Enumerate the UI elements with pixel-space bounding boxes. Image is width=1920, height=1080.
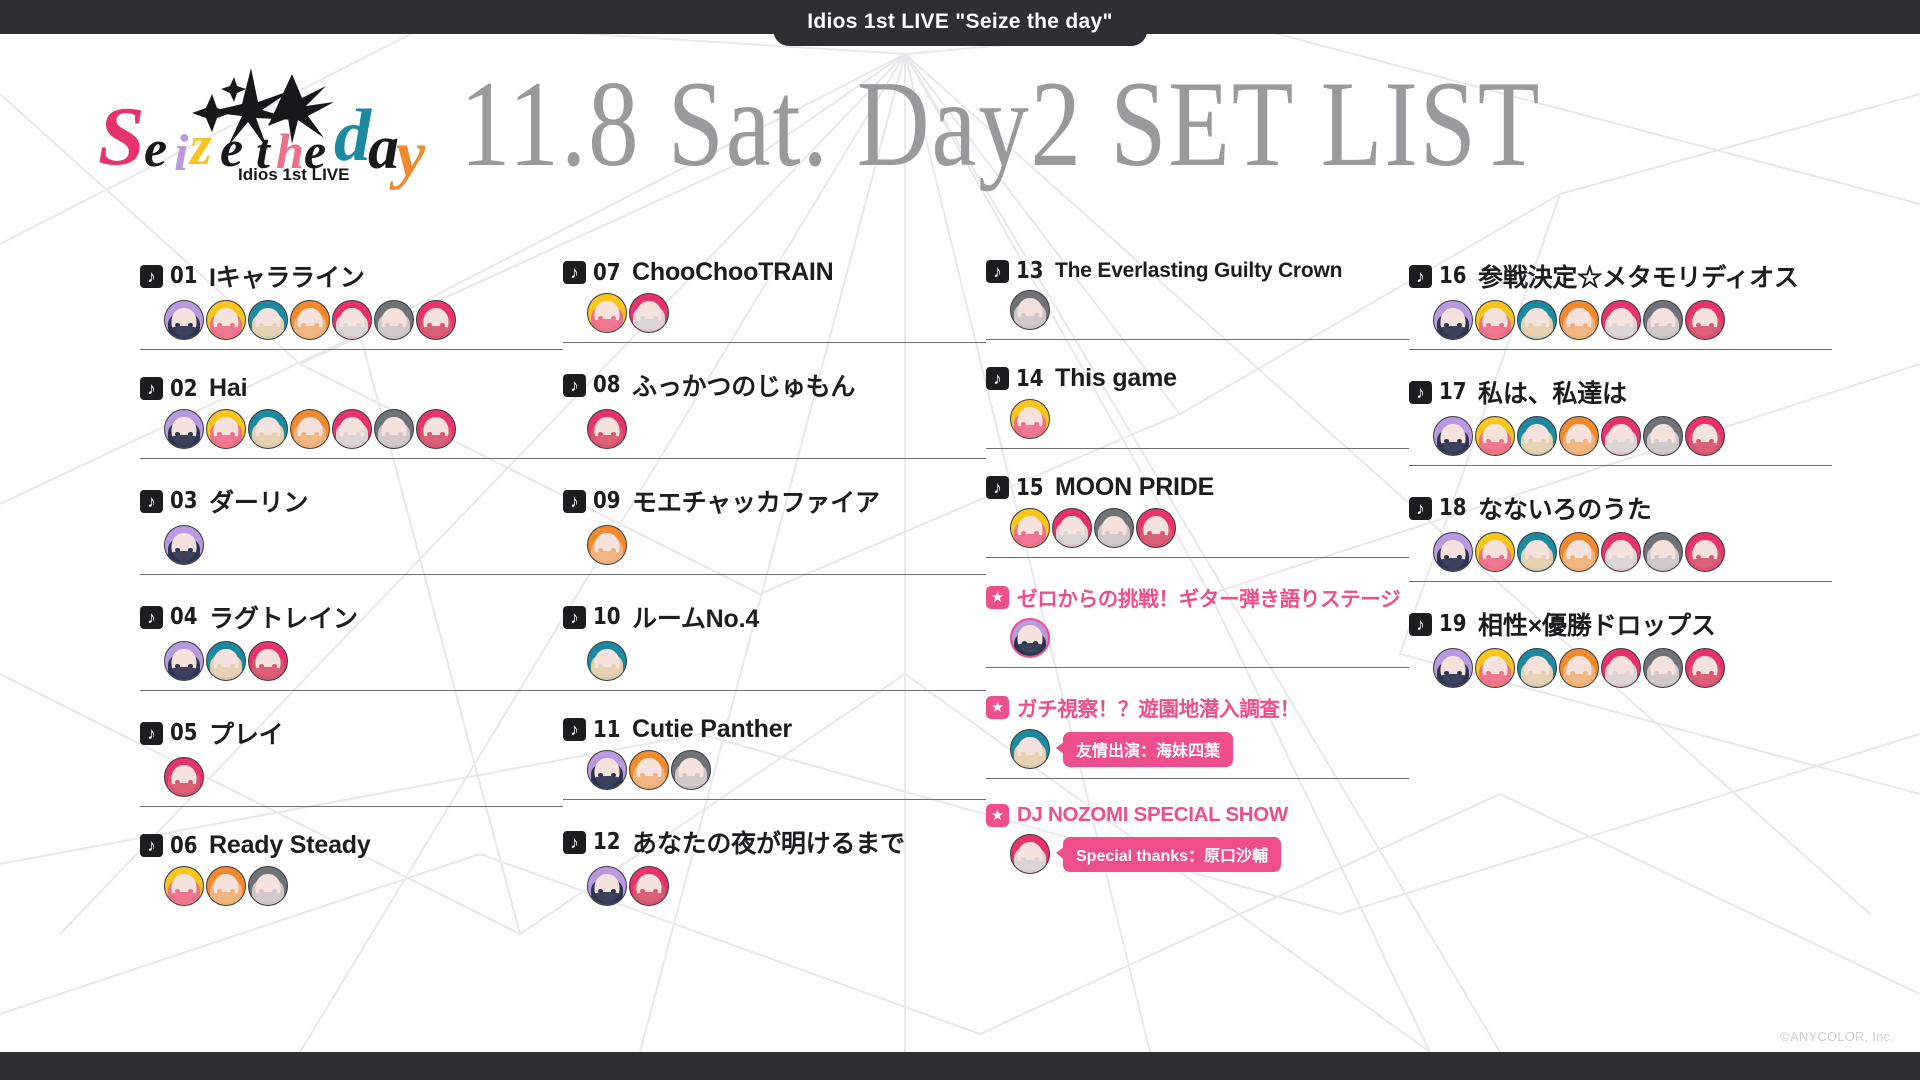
avatar <box>1052 508 1092 548</box>
event-title-tab: Idios 1st LIVE "Seize the day" <box>773 0 1147 46</box>
setlist-entry: ♪11Cutie Panther <box>563 715 986 800</box>
svg-text:e: e <box>144 121 167 178</box>
setlist-entry: ♪15MOON PRIDE <box>986 473 1409 558</box>
setlist-entry: ♪04ラグトレイン <box>140 599 563 691</box>
performer-avatars <box>164 525 563 565</box>
avatar <box>1685 416 1725 456</box>
track-number: 18 <box>1439 495 1467 521</box>
avatar <box>1010 618 1050 658</box>
avatar <box>1010 399 1050 439</box>
avatar <box>206 300 246 340</box>
avatar <box>1475 532 1515 572</box>
avatar <box>1559 532 1599 572</box>
track-line: ★DJ NOZOMI SPECIAL SHOW <box>986 803 1409 827</box>
track-title: Hai <box>209 374 247 403</box>
avatar <box>1010 290 1050 330</box>
avatar <box>1685 300 1725 340</box>
avatar <box>206 641 246 681</box>
avatar <box>248 300 288 340</box>
performer-avatars: 友情出演：海妹四葉 <box>1010 729 1409 769</box>
track-number: 10 <box>593 604 621 630</box>
music-note-icon: ♪ <box>563 606 586 629</box>
track-title: The Everlasting Guilty Crown <box>1055 259 1342 283</box>
performer-avatars <box>587 293 986 333</box>
track-number: 13 <box>1016 258 1044 284</box>
track-line: ♪14This game <box>986 364 1409 393</box>
setlist-page: Idios 1st LIVE "Seize the day" S e i z e… <box>0 0 1920 1080</box>
music-note-icon: ♪ <box>1409 381 1432 404</box>
avatar <box>1433 416 1473 456</box>
avatar <box>629 866 669 906</box>
avatar <box>1475 648 1515 688</box>
track-line: ★ゼロからの挑戦！ギター弾き語りステージ <box>986 582 1409 612</box>
music-note-icon: ♪ <box>140 834 163 857</box>
avatar <box>1475 416 1515 456</box>
avatar <box>164 866 204 906</box>
music-note-icon: ♪ <box>1409 265 1432 288</box>
avatar <box>1601 532 1641 572</box>
avatar <box>1517 416 1557 456</box>
track-line: ♪09モエチャッカファイア <box>563 483 986 519</box>
track-title: ふっかつのじゅもん <box>632 367 855 403</box>
special-segment-title: DJ NOZOMI SPECIAL SHOW <box>1017 803 1288 827</box>
track-number: 16 <box>1439 263 1467 289</box>
performer-avatars <box>164 757 563 797</box>
avatar <box>1010 508 1050 548</box>
avatar <box>206 866 246 906</box>
setlist-entry: ♪03ダーリン <box>140 483 563 575</box>
track-number: 15 <box>1016 475 1044 501</box>
setlist-entry: ♪16参戦決定☆メタモリディオス <box>1409 258 1832 350</box>
track-number: 14 <box>1016 366 1044 392</box>
performer-avatars <box>164 866 563 906</box>
track-title: ダーリン <box>209 483 308 519</box>
track-line: ★ガチ視察！？遊園地潜入調査！ <box>986 692 1409 722</box>
avatar <box>1517 300 1557 340</box>
track-line: ♪16参戦決定☆メタモリディオス <box>1409 258 1832 294</box>
track-title: MOON PRIDE <box>1055 473 1214 502</box>
track-line: ♪15MOON PRIDE <box>986 473 1409 502</box>
guest-badge: Special thanks：原口沙輔 <box>1063 837 1281 872</box>
track-title: Ready Steady <box>209 831 371 860</box>
avatar <box>1601 416 1641 456</box>
avatar <box>671 750 711 790</box>
music-note-icon: ♪ <box>563 718 586 741</box>
star-icon: ★ <box>986 696 1009 719</box>
avatar <box>164 757 204 797</box>
track-line: ♪05プレイ <box>140 715 563 751</box>
track-number: 19 <box>1439 611 1467 637</box>
track-line: ♪01Iキャラライン <box>140 258 563 294</box>
track-title: モエチャッカファイア <box>632 483 880 519</box>
avatar <box>164 641 204 681</box>
avatar <box>587 293 627 333</box>
track-number: 02 <box>170 376 198 402</box>
seize-the-day-logo: S e i z e t h e d a y Idios 1st LIVE <box>96 60 446 190</box>
performer-avatars <box>1433 300 1832 340</box>
setlist-entry: ♪05プレイ <box>140 715 563 807</box>
track-title: This game <box>1055 364 1177 393</box>
avatar <box>1601 300 1641 340</box>
track-line: ♪08ふっかつのじゅもん <box>563 367 986 403</box>
avatar <box>1475 300 1515 340</box>
avatar <box>206 409 246 449</box>
avatar <box>1643 416 1683 456</box>
avatar <box>1517 532 1557 572</box>
avatar <box>374 409 414 449</box>
setlist-entry: ♪12あなたの夜が明けるまで <box>563 824 986 915</box>
track-number: 08 <box>593 372 621 398</box>
avatar <box>290 300 330 340</box>
track-line: ♪13The Everlasting Guilty Crown <box>986 258 1409 284</box>
track-line: ♪07ChooChooTRAIN <box>563 258 986 287</box>
avatar <box>587 866 627 906</box>
performer-avatars <box>587 641 986 681</box>
column-4: ♪16参戦決定☆メタモリディオス♪17私は、私達は♪18なないろのうた♪19相性… <box>1409 258 1832 915</box>
setlist-columns: ♪01Iキャラライン♪02Hai♪03ダーリン♪04ラグトレイン♪05プレイ♪0… <box>0 258 1920 915</box>
special-segment-title: ガチ視察！？遊園地潜入調査！ <box>1017 692 1300 722</box>
avatar <box>1559 300 1599 340</box>
performer-avatars <box>1010 399 1409 439</box>
track-line: ♪17私は、私達は <box>1409 374 1832 410</box>
music-note-icon: ♪ <box>986 260 1009 283</box>
avatar <box>1685 648 1725 688</box>
setlist-entry: ♪19相性×優勝ドロップス <box>1409 606 1832 697</box>
track-title: あなたの夜が明けるまで <box>632 824 905 860</box>
avatar <box>164 409 204 449</box>
star-icon: ★ <box>986 586 1009 609</box>
avatar <box>1601 648 1641 688</box>
svg-text:S: S <box>98 90 145 183</box>
track-title: なないろのうた <box>1478 490 1652 526</box>
performer-avatars <box>587 409 986 449</box>
copyright-text: ©ANYCOLOR, Inc. <box>1780 1029 1894 1044</box>
music-note-icon: ♪ <box>986 367 1009 390</box>
performer-avatars <box>164 300 563 340</box>
track-line: ♪19相性×優勝ドロップス <box>1409 606 1832 642</box>
avatar <box>332 409 372 449</box>
setlist-entry: ♪17私は、私達は <box>1409 374 1832 466</box>
performer-avatars: Special thanks：原口沙輔 <box>1010 834 1409 874</box>
avatar <box>1010 729 1050 769</box>
avatar <box>1643 532 1683 572</box>
track-title: 私は、私達は <box>1478 374 1627 410</box>
setlist-entry: ♪07ChooChooTRAIN <box>563 258 986 343</box>
track-title: 相性×優勝ドロップス <box>1478 606 1716 642</box>
track-line: ♪02Hai <box>140 374 563 403</box>
track-title: ルームNo.4 <box>632 599 759 635</box>
avatar <box>1433 648 1473 688</box>
avatar <box>1685 532 1725 572</box>
track-number: 12 <box>593 829 621 855</box>
avatar <box>629 750 669 790</box>
music-note-icon: ♪ <box>140 377 163 400</box>
star-icon: ★ <box>986 804 1009 827</box>
logo-sub-label: Idios 1st LIVE <box>238 165 349 184</box>
track-line: ♪12あなたの夜が明けるまで <box>563 824 986 860</box>
performer-avatars <box>587 866 986 906</box>
track-number: 04 <box>170 604 198 630</box>
track-title: Cutie Panther <box>632 715 792 744</box>
svg-text:z: z <box>188 115 212 177</box>
svg-text:a: a <box>368 114 399 182</box>
track-number: 09 <box>593 488 621 514</box>
setlist-entry: ♪14This game <box>986 364 1409 449</box>
setlist-entry: ★DJ NOZOMI SPECIAL SHOWSpecial thanks：原口… <box>986 803 1409 883</box>
performer-avatars <box>1010 508 1409 548</box>
setlist-entry: ♪09モエチャッカファイア <box>563 483 986 575</box>
avatar <box>248 641 288 681</box>
track-title: ChooChooTRAIN <box>632 258 834 287</box>
avatar <box>248 409 288 449</box>
setlist-entry: ♪01Iキャラライン <box>140 258 563 350</box>
track-line: ♪04ラグトレイン <box>140 599 563 635</box>
track-line: ♪03ダーリン <box>140 483 563 519</box>
track-number: 07 <box>593 260 621 286</box>
music-note-icon: ♪ <box>140 490 163 513</box>
avatar <box>248 866 288 906</box>
avatar <box>587 750 627 790</box>
performer-avatars <box>1433 532 1832 572</box>
avatar <box>374 300 414 340</box>
avatar <box>416 300 456 340</box>
performer-avatars <box>1010 290 1409 330</box>
svg-text:i: i <box>174 125 189 182</box>
setlist-entry: ★ゼロからの挑戦！ギター弾き語りステージ <box>986 582 1409 668</box>
bottom-bar <box>0 1052 1920 1080</box>
avatar <box>1559 648 1599 688</box>
music-note-icon: ♪ <box>140 606 163 629</box>
column-3: ♪13The Everlasting Guilty Crown♪14This g… <box>986 258 1409 915</box>
performer-avatars <box>587 750 986 790</box>
setlist-entry: ★ガチ視察！？遊園地潜入調査！友情出演：海妹四葉 <box>986 692 1409 779</box>
track-title: ラグトレイン <box>209 599 358 635</box>
music-note-icon: ♪ <box>1409 613 1432 636</box>
special-segment-title: ゼロからの挑戦！ギター弾き語りステージ <box>1017 582 1400 612</box>
avatar <box>164 525 204 565</box>
page-title: 11.8 Sat. Day2 SET LIST <box>460 64 1541 187</box>
setlist-entry: ♪02Hai <box>140 374 563 459</box>
track-title: プレイ <box>209 715 283 751</box>
music-note-icon: ♪ <box>563 374 586 397</box>
avatar <box>1643 648 1683 688</box>
setlist-entry: ♪18なないろのうた <box>1409 490 1832 582</box>
performer-avatars <box>1433 648 1832 688</box>
performer-avatars <box>1010 618 1409 658</box>
performer-avatars <box>1433 416 1832 456</box>
track-line: ♪18なないろのうた <box>1409 490 1832 526</box>
avatar <box>1136 508 1176 548</box>
setlist-entry: ♪06Ready Steady <box>140 831 563 915</box>
track-number: 01 <box>170 263 198 289</box>
track-line: ♪10ルームNo.4 <box>563 599 986 635</box>
track-number: 03 <box>170 488 198 514</box>
avatar <box>416 409 456 449</box>
music-note-icon: ♪ <box>563 490 586 513</box>
performer-avatars <box>587 525 986 565</box>
avatar <box>587 525 627 565</box>
track-number: 06 <box>170 833 198 859</box>
avatar <box>1010 834 1050 874</box>
music-note-icon: ♪ <box>1409 497 1432 520</box>
guest-badge: 友情出演：海妹四葉 <box>1063 732 1233 767</box>
avatar <box>587 641 627 681</box>
music-note-icon: ♪ <box>563 261 586 284</box>
track-number: 17 <box>1439 379 1467 405</box>
title-row: S e i z e t h e d a y Idios 1st LIVE <box>96 60 1856 190</box>
avatar <box>1433 532 1473 572</box>
avatar <box>629 293 669 333</box>
avatar <box>1517 648 1557 688</box>
track-title: 参戦決定☆メタモリディオス <box>1478 258 1799 294</box>
column-1: ♪01Iキャラライン♪02Hai♪03ダーリン♪04ラグトレイン♪05プレイ♪0… <box>140 258 563 915</box>
setlist-entry: ♪13The Everlasting Guilty Crown <box>986 258 1409 340</box>
avatar <box>1643 300 1683 340</box>
setlist-entry: ♪10ルームNo.4 <box>563 599 986 691</box>
music-note-icon: ♪ <box>986 476 1009 499</box>
avatar <box>1433 300 1473 340</box>
column-2: ♪07ChooChooTRAIN♪08ふっかつのじゅもん♪09モエチャッカファイ… <box>563 258 986 915</box>
avatar <box>164 300 204 340</box>
avatar <box>1559 416 1599 456</box>
track-number: 11 <box>593 717 621 743</box>
setlist-entry: ♪08ふっかつのじゅもん <box>563 367 986 459</box>
track-title: Iキャラライン <box>209 258 365 294</box>
track-number: 05 <box>170 720 198 746</box>
avatar <box>587 409 627 449</box>
avatar <box>332 300 372 340</box>
music-note-icon: ♪ <box>140 265 163 288</box>
avatar <box>1094 508 1134 548</box>
track-line: ♪06Ready Steady <box>140 831 563 860</box>
performer-avatars <box>164 409 563 449</box>
music-note-icon: ♪ <box>563 831 586 854</box>
music-note-icon: ♪ <box>140 722 163 745</box>
track-line: ♪11Cutie Panther <box>563 715 986 744</box>
performer-avatars <box>164 641 563 681</box>
avatar <box>290 409 330 449</box>
